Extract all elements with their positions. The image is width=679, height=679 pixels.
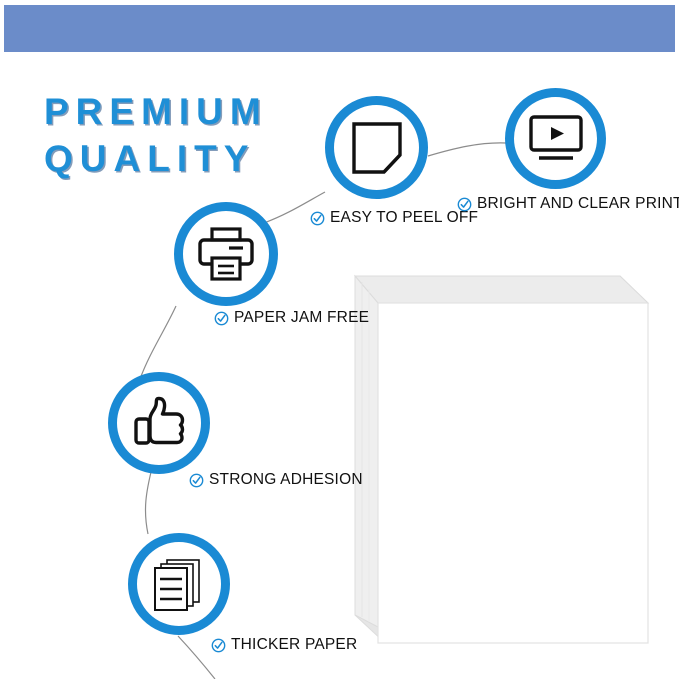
badge-bright-and-clear-printing[interactable] <box>505 88 606 189</box>
feature-label-text: STRONG ADHESION <box>209 471 363 489</box>
check-circle-icon <box>211 638 226 653</box>
paper-ream-stack <box>352 272 652 647</box>
stacked-sheets-icon <box>137 542 221 626</box>
feature-label-text: PAPER JAM FREE <box>234 309 369 327</box>
feature-label-text: THICKER PAPER <box>231 636 357 654</box>
infographic-canvas: PREMIUM QUALITY E <box>0 0 679 679</box>
badge-paper-jam-free[interactable] <box>174 202 278 306</box>
connector-thumb-to-thicker <box>145 468 152 534</box>
feature-label-strong-adhesion: STRONG ADHESION <box>189 471 363 489</box>
thumbs-up-icon <box>117 381 201 465</box>
monitor-play-icon <box>514 97 597 180</box>
feature-label-paper-jam-free: PAPER JAM FREE <box>214 309 369 327</box>
badge-strong-adhesion[interactable] <box>108 372 210 474</box>
connector-peel-to-monitor <box>428 143 506 156</box>
feature-label-text: BRIGHT AND CLEAR PRINTING <box>477 195 679 213</box>
feature-label-easy-to-peel-off: EASY TO PEEL OFF <box>310 209 478 227</box>
feature-label-text: EASY TO PEEL OFF <box>330 209 478 227</box>
connector-printer-to-thumb <box>140 306 176 379</box>
check-circle-icon <box>310 211 325 226</box>
check-circle-icon <box>189 473 204 488</box>
check-circle-icon <box>214 311 229 326</box>
badge-easy-to-peel-off[interactable] <box>325 96 428 199</box>
badge-thicker-paper[interactable] <box>128 533 230 635</box>
peel-label-icon <box>334 105 419 190</box>
printer-icon <box>183 211 269 297</box>
connector-thicker-to-bottom <box>178 636 215 679</box>
feature-label-bright-and-clear-printing: BRIGHT AND CLEAR PRINTING <box>457 195 679 213</box>
check-circle-icon <box>457 197 472 212</box>
feature-label-thicker-paper: THICKER PAPER <box>211 636 357 654</box>
